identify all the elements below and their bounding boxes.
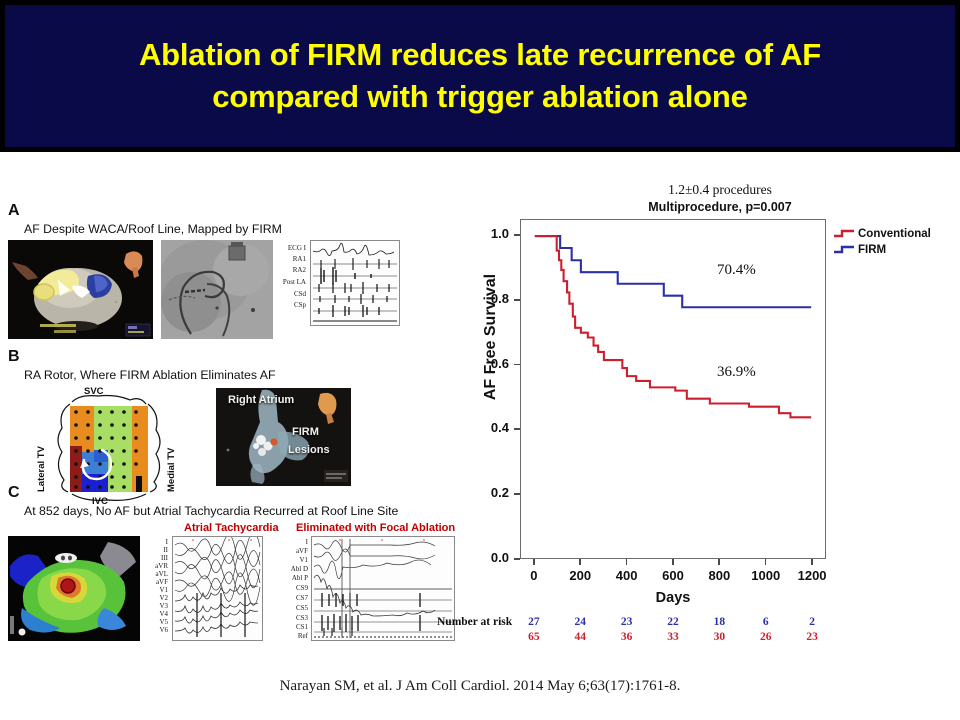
- title-line-2: compared with trigger ablation alone: [212, 79, 747, 114]
- ecg-lead-left-9: V3: [134, 602, 168, 610]
- x-tick-label: 400: [602, 568, 652, 583]
- rotor-map-graphic: [36, 388, 182, 506]
- y-tick-mark: [514, 364, 520, 366]
- curve-conventional: [535, 236, 811, 417]
- risk-count-firm: 2: [797, 616, 827, 628]
- egm-label-csp: CSp: [258, 301, 306, 309]
- y-axis-label: AF Free Survival: [482, 237, 500, 437]
- ecg-lead-left-3: III: [134, 554, 168, 562]
- ra-image-label-lesions: Lesions: [288, 444, 330, 456]
- focal-ablation-traces: [312, 537, 454, 640]
- annotation-firm-percent: 70.4%: [717, 262, 756, 279]
- risk-count-firm: 18: [704, 616, 734, 628]
- panel-a-letter: A: [8, 202, 20, 220]
- 3d-map-graphic: [8, 240, 153, 339]
- rotor-label-svc: SVC: [84, 386, 104, 397]
- panel-c-caption: At 852 days, No AF but Atrial Tachycardi…: [24, 504, 398, 518]
- risk-count-conventional: 36: [612, 631, 642, 643]
- ra-image-label-right-atrium: Right Atrium: [228, 394, 294, 406]
- title-line-1: Ablation of FIRM reduces late recurrence…: [139, 37, 821, 72]
- panel-c-ecg-box-left: [172, 536, 263, 641]
- risk-count-conventional: 44: [565, 631, 595, 643]
- x-tick-mark: [626, 559, 628, 565]
- title-banner: Ablation of FIRM reduces late recurrence…: [0, 0, 960, 152]
- icd-lead-right-9: CS3: [274, 614, 308, 622]
- x-tick-label: 1000: [741, 568, 791, 583]
- number-at-risk-label: Number at risk: [437, 616, 512, 628]
- ecg-lead-left-6: aVF: [134, 578, 168, 586]
- chart-subtitle: Multiprocedure, p=0.007: [575, 200, 865, 214]
- y-tick-mark: [514, 299, 520, 301]
- panel-c-subcaption-right: Eliminated with Focal Ablation: [296, 522, 455, 534]
- chart-title: 1.2±0.4 procedures: [575, 182, 865, 198]
- icd-lead-right-8: CS5: [274, 604, 308, 612]
- risk-count-firm: 6: [751, 616, 781, 628]
- panel-c-letter: C: [8, 484, 20, 502]
- y-tick-mark: [514, 493, 520, 495]
- icd-lead-right-11: Ref: [274, 632, 308, 640]
- ecg-lead-left-8: V2: [134, 594, 168, 602]
- x-tick-mark: [765, 559, 767, 565]
- y-tick-mark: [514, 558, 520, 560]
- y-tick-mark: [514, 234, 520, 236]
- panel-b-caption: RA Rotor, Where FIRM Ablation Eliminates…: [24, 368, 276, 382]
- curve-firm: [535, 236, 811, 307]
- y-tick-label: 0.2: [461, 485, 509, 500]
- x-tick-mark: [718, 559, 720, 565]
- x-tick-label: 0: [509, 568, 559, 583]
- icd-lead-right-2: aVF: [274, 547, 308, 555]
- risk-count-conventional: 30: [704, 631, 734, 643]
- legend-item-conventional[interactable]: Conventional: [833, 226, 931, 241]
- panel-a-caption: AF Despite WACA/Roof Line, Mapped by FIR…: [24, 222, 282, 236]
- legend-step-line-conventional: [833, 227, 855, 240]
- atrial-tachycardia-traces: [173, 537, 262, 640]
- ecg-lead-left-10: V4: [134, 610, 168, 618]
- ra-image-label-firm: FIRM: [292, 426, 319, 438]
- x-axis-label: Days: [520, 590, 826, 606]
- panel-b-letter: B: [8, 348, 20, 366]
- ecg-lead-left-12: V6: [134, 626, 168, 634]
- annotation-conventional-percent: 36.9%: [717, 364, 756, 381]
- risk-count-conventional: 26: [751, 631, 781, 643]
- ecg-lead-left-2: II: [134, 546, 168, 554]
- activation-map-graphic: [8, 536, 140, 641]
- risk-count-firm: 22: [658, 616, 688, 628]
- x-tick-mark: [672, 559, 674, 565]
- icd-lead-right-10: CS1: [274, 623, 308, 631]
- panel-b-rotor-map: [36, 388, 182, 506]
- citation-text: Narayan SM, et al. J Am Coll Cardiol. 20…: [0, 678, 960, 695]
- egm-label-csd: CSd: [258, 290, 306, 298]
- risk-count-conventional: 33: [658, 631, 688, 643]
- egm-label-post-la: Post LA: [258, 278, 306, 286]
- risk-count-conventional: 65: [519, 631, 549, 643]
- icd-lead-right-1: I: [274, 538, 308, 546]
- kaplan-meier-chart: 1.2±0.4 procedures Multiprocedure, p=0.0…: [455, 178, 955, 648]
- icd-lead-right-6: CS9: [274, 584, 308, 592]
- icd-lead-right-5: Abl P: [274, 574, 308, 582]
- chart-legend: Conventional FIRM: [833, 226, 931, 258]
- rotor-label-lateral-tv: Lateral TV: [36, 446, 47, 492]
- x-tick-label: 800: [694, 568, 744, 583]
- panel-a-3d-map-image: [8, 240, 153, 339]
- icd-lead-right-4: Abl D: [274, 565, 308, 573]
- panel-c-subcaption-left: Atrial Tachycardia: [184, 522, 279, 534]
- fluoroscopy-graphic: [161, 240, 273, 339]
- x-tick-label: 1200: [787, 568, 837, 583]
- legend-item-firm[interactable]: FIRM: [833, 242, 931, 257]
- egm-label-ra1: RA1: [258, 255, 306, 263]
- risk-count-firm: 23: [612, 616, 642, 628]
- x-tick-label: 200: [555, 568, 605, 583]
- panel-c-ecg-box-right: [311, 536, 455, 641]
- egm-label-ra2: RA2: [258, 266, 306, 274]
- x-tick-mark: [533, 559, 535, 565]
- figure-column: A AF Despite WACA/Roof Line, Mapped by F…: [6, 196, 458, 652]
- chart-plot-area: [520, 219, 826, 559]
- ecg-lead-left-7: V1: [134, 586, 168, 594]
- x-tick-mark: [811, 559, 813, 565]
- x-tick-mark: [579, 559, 581, 565]
- page-title: Ablation of FIRM reduces late recurrence…: [40, 34, 920, 118]
- panel-a-fluoroscopy-image: [161, 240, 273, 339]
- electrogram-traces: [311, 241, 399, 325]
- egm-label-ecg-i: ECG I: [258, 244, 306, 252]
- slide-root: Ablation of FIRM reduces late recurrence…: [0, 0, 960, 720]
- legend-label-firm: FIRM: [858, 244, 886, 256]
- legend-label-conventional: Conventional: [858, 228, 931, 240]
- x-tick-label: 600: [648, 568, 698, 583]
- panel-a-electrogram-box: [310, 240, 400, 326]
- panel-c-voltage-map-image: [8, 536, 140, 641]
- icd-lead-right-3: V1: [274, 556, 308, 564]
- ecg-lead-left-11: V5: [134, 618, 168, 626]
- ecg-lead-left-1: I: [134, 538, 168, 546]
- rotor-label-medial-tv: Medial TV: [166, 448, 177, 492]
- legend-step-line-firm: [833, 243, 855, 256]
- survival-curves: [521, 220, 825, 558]
- risk-count-conventional: 23: [797, 631, 827, 643]
- ecg-lead-left-5: aVL: [134, 570, 168, 578]
- y-tick-mark: [514, 428, 520, 430]
- ecg-lead-left-4: aVR: [134, 562, 168, 570]
- risk-count-firm: 24: [565, 616, 595, 628]
- risk-count-firm: 27: [519, 616, 549, 628]
- icd-lead-right-7: CS7: [274, 594, 308, 602]
- y-tick-label: 0.0: [461, 550, 509, 565]
